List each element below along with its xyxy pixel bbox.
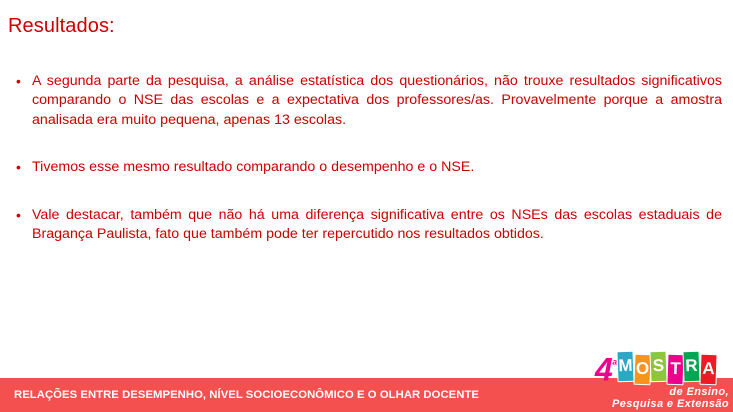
- bullet-text: Tivemos esse mesmo resultado comparando …: [32, 158, 722, 177]
- logo-wordmark: M O S T R A: [617, 347, 716, 385]
- logo-subtitle-line-1: de Ensino,: [601, 386, 729, 398]
- bullet-marker-icon: •: [10, 158, 32, 177]
- list-item: • Vale destacar, também que não há uma d…: [10, 206, 722, 245]
- logo-subtitle-line-2: Pesquisa e Extensão: [601, 398, 729, 410]
- logo-letter-s: S: [649, 351, 667, 383]
- bullet-marker-icon: •: [10, 72, 32, 91]
- list-item: • Tivemos esse mesmo resultado comparand…: [10, 158, 722, 177]
- logo-letter-t: T: [666, 354, 684, 386]
- page-title: Resultados:: [8, 14, 115, 38]
- slide-canvas: Resultados: • A segunda parte da pesquis…: [0, 0, 733, 412]
- footer-title: RELAÇÕES ENTRE DESEMPENHO, NÍVEL SOCIOEC…: [14, 389, 479, 401]
- logo-subtitle: de Ensino, Pesquisa e Extensão: [601, 386, 729, 410]
- bullet-list: • A segunda parte da pesquisa, a análise…: [10, 72, 722, 244]
- logo-letter-r: R: [682, 351, 700, 383]
- logo-letter-a: A: [699, 354, 717, 386]
- mostra-logo: 4ª M O S T R A de Ensino, Pesquisa e Ext…: [595, 347, 731, 411]
- bullet-marker-icon: •: [10, 206, 32, 225]
- logo-number-value: 4: [595, 352, 612, 388]
- logo-letter-m: M: [616, 351, 634, 383]
- bullet-text: A segunda parte da pesquisa, a análise e…: [32, 72, 722, 130]
- logo-ordinal: ª: [612, 357, 616, 372]
- list-item: • A segunda parte da pesquisa, a análise…: [10, 72, 722, 130]
- logo-letter-o: O: [633, 354, 651, 386]
- bullet-text: Vale destacar, também que não há uma dif…: [32, 206, 722, 245]
- logo-edition-number: 4ª: [595, 349, 616, 386]
